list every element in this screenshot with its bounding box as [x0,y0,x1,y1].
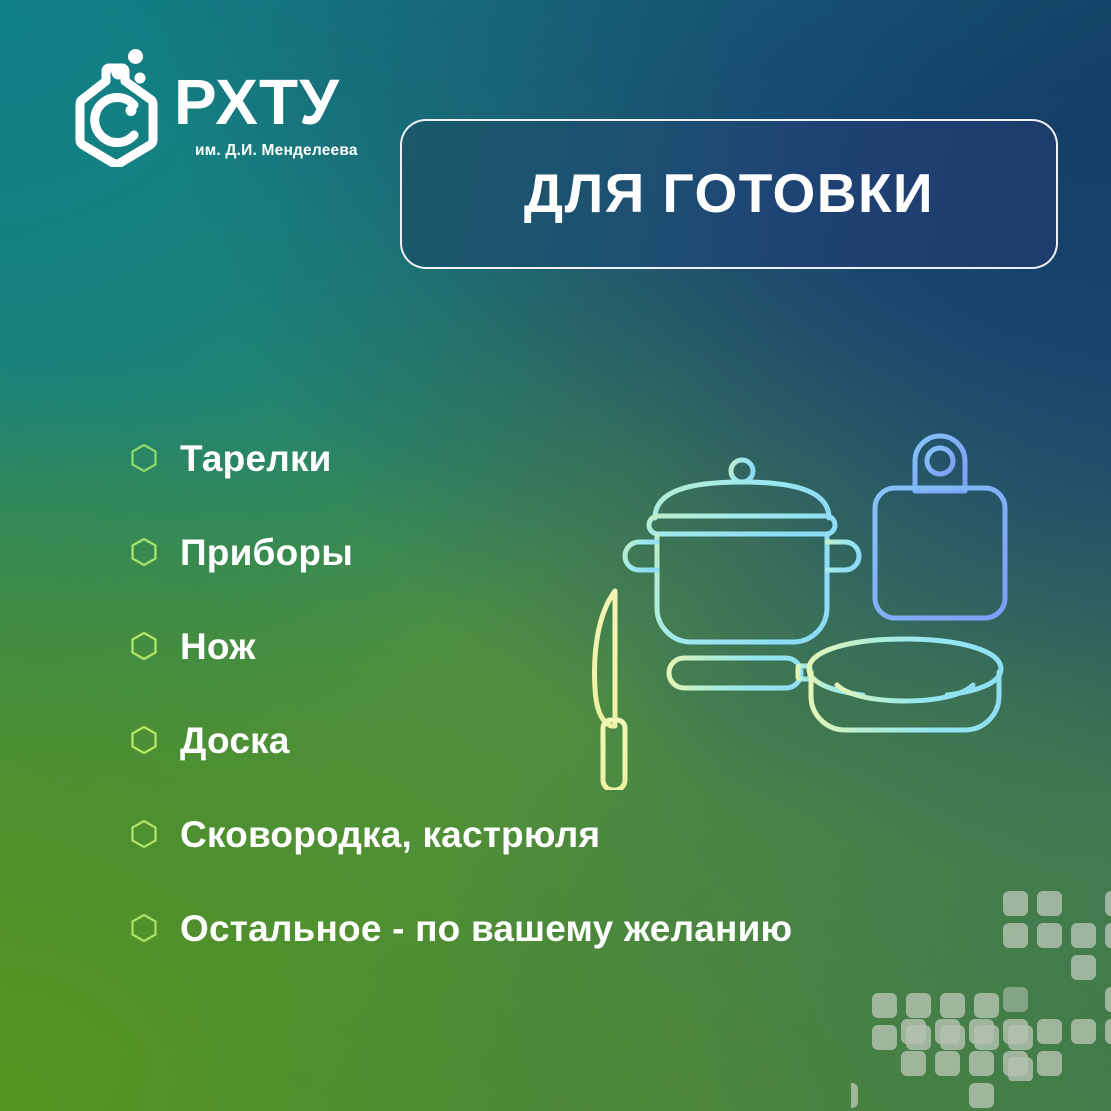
brand-logo: РХТУ им. Д.И. Менделеева [62,47,362,182]
frying-pan-icon [669,639,1001,730]
list-item-label: Тарелки [180,440,332,477]
cooking-pot-icon [625,460,859,642]
list-item-label: Доска [180,722,290,759]
list-item-label: Нож [180,628,256,665]
list-item: Сковородка, кастрюля [130,808,960,860]
hexagon-outline-icon [130,537,158,567]
logo-wordmark: РХТУ [174,70,340,134]
rounded-square-grid-pattern-secondary [866,991,1056,1081]
page-title: ДЛЯ ГОТОВКИ [524,166,934,223]
knife-icon [595,591,625,790]
list-item-label: Приборы [180,534,353,571]
hexagon-outline-icon [130,631,158,661]
list-item-label: Сковородка, кастрюля [180,816,600,853]
list-item-label: Остальное - по вашему желанию [180,910,792,947]
hexagon-outline-icon [130,913,158,943]
logo-subtitle: им. Д.И. Менделеева [195,142,358,160]
cookware-illustration [585,370,1035,790]
hexagon-outline-icon [130,819,158,849]
hexagon-outline-icon [130,725,158,755]
title-banner: ДЛЯ ГОТОВКИ [400,119,1058,269]
poster-canvas: РХТУ им. Д.И. Менделеева ДЛЯ ГОТОВКИ Тар… [0,0,1111,1111]
cutting-board-icon [875,436,1005,618]
rhtu-flask-hexagon-logo [62,47,170,167]
hexagon-outline-icon [130,443,158,473]
list-item: Остальное - по вашему желанию [130,902,960,954]
